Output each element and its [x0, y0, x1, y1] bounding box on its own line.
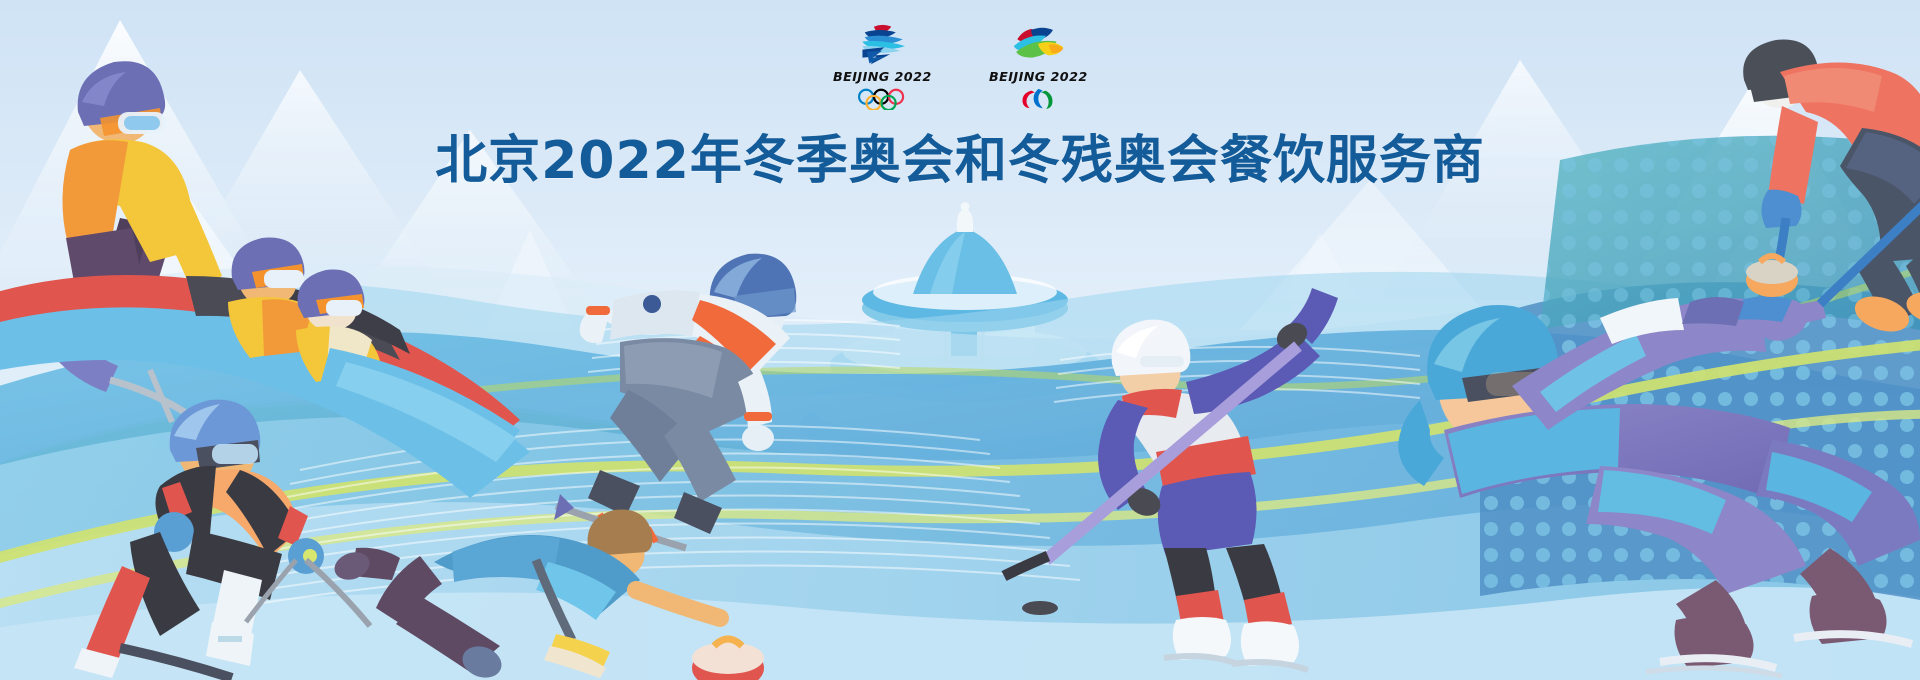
- athlete-cross-country-skier: [74, 400, 370, 678]
- page-title: 北京2022年冬季奥会和冬残奥会餐饮服务商: [435, 118, 1485, 193]
- athlete-curler-delivering: [331, 510, 764, 680]
- paralympic-agitos-icon: [1012, 88, 1065, 110]
- beijing-2022-paralympic-emblem-icon: [1002, 22, 1074, 68]
- athlete-speed-skater-purple: [1398, 292, 1920, 676]
- paralympic-wordmark: BEIJING 2022: [989, 71, 1088, 84]
- emblem-row: BEIJING 2022 BEIJING 2022: [0, 22, 1920, 122]
- athlete-speed-skater-white: [554, 254, 796, 548]
- olympic-rings-icon: [856, 88, 909, 110]
- olympic-wordmark: BEIJING 2022: [833, 71, 932, 84]
- banner-title-wrap: 北京2022年冬季奥会和冬残奥会餐饮服务商: [0, 118, 1920, 193]
- athlete-ice-hockey-player: [1004, 288, 1338, 670]
- beijing-2022-olympic-emblem-icon: [846, 22, 918, 68]
- olympic-emblem-block: BEIJING 2022: [823, 22, 941, 110]
- beijing-2022-catering-banner: BEIJING 2022 BEIJING 2022: [0, 0, 1920, 680]
- paralympic-emblem-block: BEIJING 2022: [979, 22, 1097, 110]
